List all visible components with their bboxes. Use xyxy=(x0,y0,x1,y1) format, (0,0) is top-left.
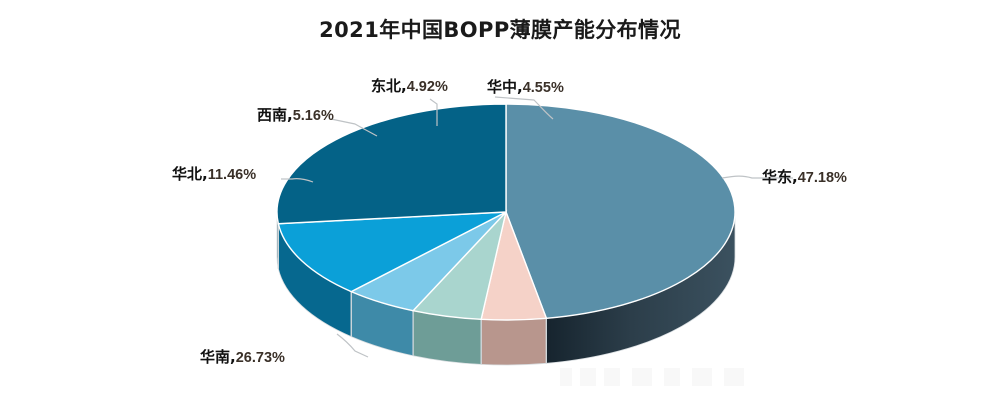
slice-label-xinan-name: 西南 xyxy=(257,106,287,124)
slice-label-huabei-percent: 11.46% xyxy=(208,167,256,183)
slice-label-huazhong-name: 华中 xyxy=(487,78,517,96)
slice-label-huadong: 华东,47.18% xyxy=(762,170,847,186)
slice-label-xinan: 西南,5.16% xyxy=(257,108,334,124)
slice-label-xinan-percent: 5.16% xyxy=(293,108,334,124)
pie-chart-graphic xyxy=(0,0,1000,404)
watermark xyxy=(560,368,760,386)
slice-label-huadong-percent: 47.18% xyxy=(798,170,847,186)
pie-chart-figure: 2021年中国BOPP薄膜产能分布情况 华东,47.18% 华中,4.55% 东 xyxy=(0,0,1000,404)
slice-label-huanan-name: 华南 xyxy=(200,348,230,366)
slice-label-dongbei-percent: 4.92% xyxy=(407,79,448,95)
slice-label-huabei: 华北,11.46% xyxy=(172,167,256,183)
slice-label-huazhong: 华中,4.55% xyxy=(487,80,564,96)
slice-label-huabei-name: 华北 xyxy=(172,165,202,183)
slice-label-huanan: 华南,26.73% xyxy=(200,350,285,366)
pie-slice-side-1 xyxy=(481,318,546,365)
slice-label-huadong-name: 华东 xyxy=(762,168,792,186)
slice-label-huanan-percent: 26.73% xyxy=(236,350,285,366)
slice-label-dongbei: 东北,4.92% xyxy=(371,79,448,95)
slice-label-dongbei-name: 东北 xyxy=(371,77,401,95)
pie-top-face xyxy=(277,104,735,320)
slice-label-huazhong-percent: 4.55% xyxy=(523,80,564,96)
